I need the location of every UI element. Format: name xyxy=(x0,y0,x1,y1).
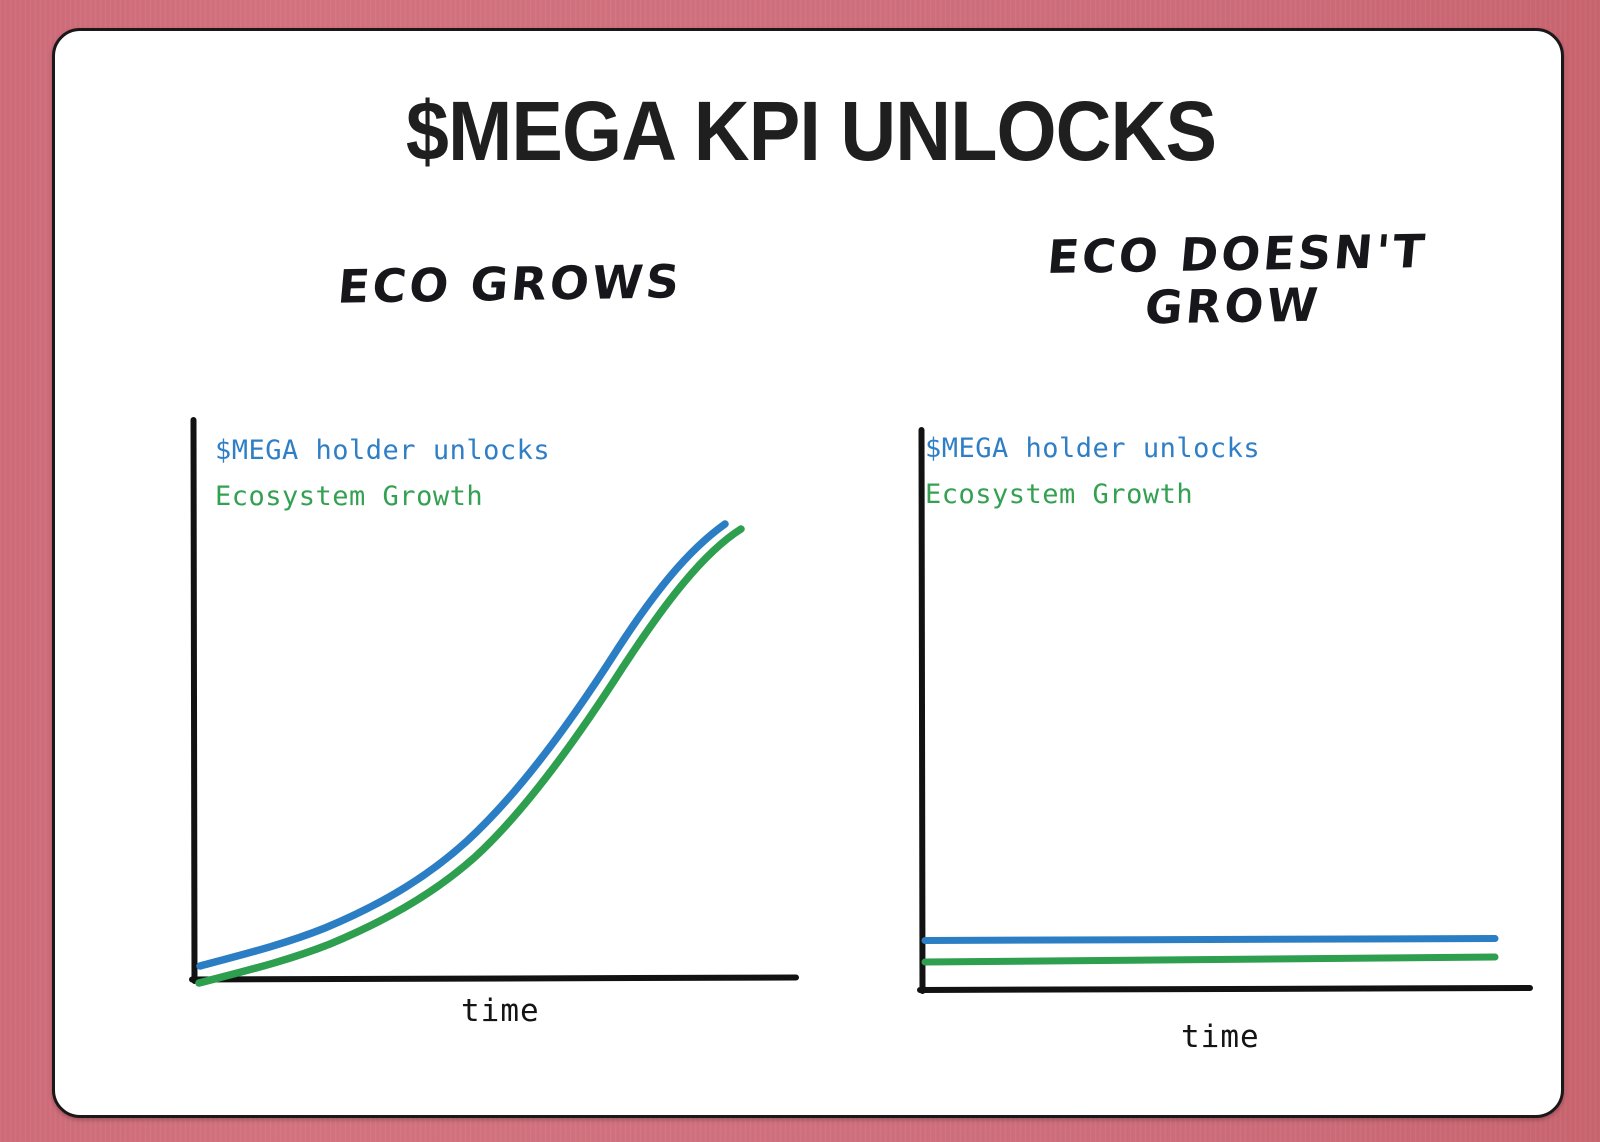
panel-title-eco-grows: ECO GROWS xyxy=(227,255,792,315)
y-axis-left xyxy=(194,420,195,981)
page-background: $MEGA KPI UNLOCKS ECO GROWS ECO DOESN'T … xyxy=(0,0,1600,1142)
series-line-unlocks-right xyxy=(925,939,1495,941)
legend-item-unlocks-right: $MEGA holder unlocks xyxy=(925,433,1260,464)
legend-item-unlocks-left: $MEGA holder unlocks xyxy=(215,435,550,466)
x-axis-label-right: time xyxy=(1181,1019,1260,1055)
x-axis-left xyxy=(192,978,796,980)
legend-item-ecosystem-left: Ecosystem Growth xyxy=(215,481,483,512)
x-axis-label-left: time xyxy=(461,993,540,1029)
series-line-unlocks-left xyxy=(200,524,725,966)
panel-title-line-2: GROW xyxy=(950,276,1515,336)
legend-item-ecosystem-right: Ecosystem Growth xyxy=(925,479,1193,510)
panel-title-eco-doesnt-grow: ECO DOESN'T GROW xyxy=(950,225,1520,337)
x-axis-right xyxy=(920,988,1530,990)
chart-eco-doesnt-grow: $MEGA holder unlocks Ecosystem Growth ti… xyxy=(903,411,1553,1051)
y-axis-right xyxy=(922,430,923,991)
series-line-ecosystem-right xyxy=(925,957,1495,962)
chart-eco-grows: $MEGA holder unlocks Ecosystem Growth ti… xyxy=(175,401,825,1041)
whiteboard-card: $MEGA KPI UNLOCKS ECO GROWS ECO DOESN'T … xyxy=(52,28,1564,1118)
series-line-ecosystem-left xyxy=(199,529,741,983)
page-title: $MEGA KPI UNLOCKS xyxy=(115,89,1506,173)
panel-title-line-1: ECO DOESN'T xyxy=(955,225,1520,285)
